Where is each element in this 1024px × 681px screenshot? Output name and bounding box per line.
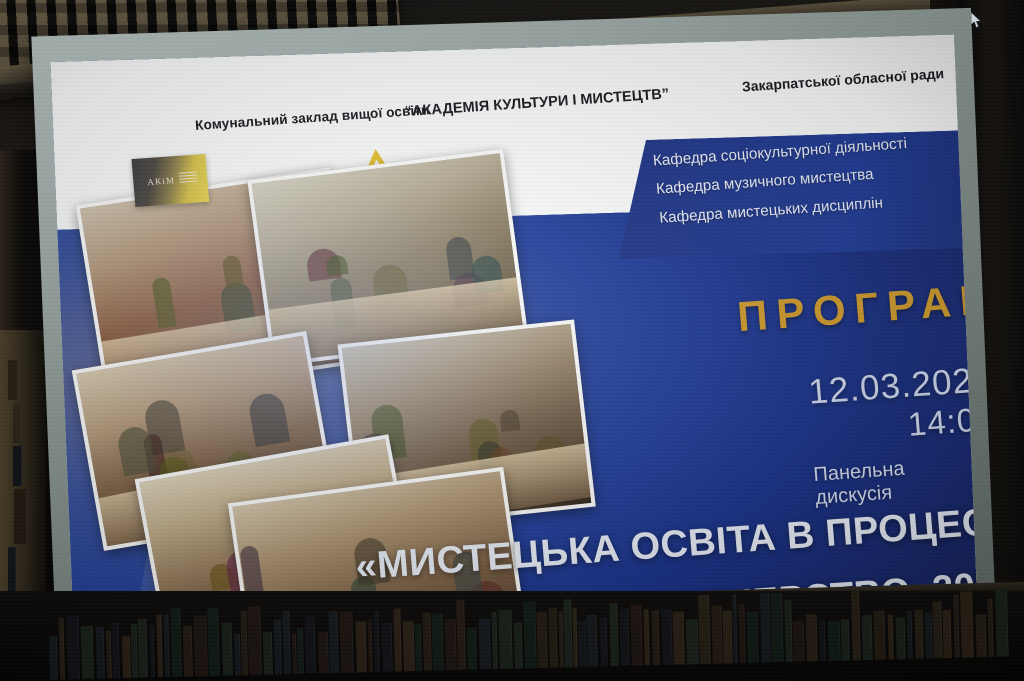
- book-spine: [431, 613, 443, 670]
- book-spine: [953, 595, 960, 658]
- book-spine: [747, 612, 759, 663]
- book-spine: [828, 621, 841, 661]
- book-spine: [445, 619, 457, 670]
- book-spine: [874, 611, 886, 660]
- book-spine: [915, 610, 924, 659]
- book-spine: [150, 625, 155, 677]
- book-spine: [698, 595, 711, 664]
- book-spine: [514, 622, 523, 668]
- book-spine: [14, 489, 27, 544]
- presentation-slide: АКіМ Комунальний заклад вищої освіти “АК…: [50, 34, 977, 639]
- book-spine: [711, 606, 722, 664]
- program-heading: ПРОГРАМА: [736, 272, 978, 341]
- book-spine: [888, 614, 894, 659]
- book-spine: [282, 610, 291, 674]
- book-spine: [536, 612, 547, 668]
- book-spine: [193, 615, 207, 676]
- book-spine: [318, 632, 329, 673]
- book-spine: [339, 612, 353, 673]
- projection-screen: АКіМ Комунальний заклад вищої освіти “АК…: [31, 8, 996, 664]
- book-spine: [274, 619, 282, 674]
- book-spine: [328, 611, 339, 673]
- mouse-pointer-icon: [971, 12, 983, 29]
- book-spine: [661, 609, 672, 665]
- academy-logo-mark: АКіМ: [147, 175, 176, 187]
- book-spine: [122, 636, 131, 678]
- book-spine: [156, 614, 163, 677]
- book-spine: [138, 619, 148, 678]
- book-spine: [851, 591, 861, 660]
- book-spine: [49, 636, 58, 680]
- book-spine: [479, 618, 491, 669]
- book-spine: [960, 591, 974, 657]
- book-spine: [943, 610, 952, 658]
- book-spine: [422, 613, 431, 671]
- academy-logo-lines: [179, 171, 198, 184]
- book-row: [8, 582, 1020, 681]
- book-spine: [760, 592, 771, 662]
- book-spine: [643, 609, 649, 665]
- book-spine: [183, 626, 193, 677]
- book-spine: [987, 599, 993, 657]
- book-spine: [368, 619, 373, 672]
- book-spine: [305, 617, 316, 674]
- book-spine: [619, 609, 629, 666]
- book-spine: [686, 619, 699, 664]
- book-spine: [373, 611, 379, 672]
- book-spine: [13, 446, 22, 486]
- book-spine: [13, 403, 22, 443]
- book-spine: [467, 628, 477, 670]
- book-spine: [456, 600, 466, 670]
- book-spine: [738, 604, 745, 663]
- screen-canvas: АКіМ Комунальний заклад вищої освіти “АК…: [50, 34, 977, 639]
- book-spine: [587, 615, 598, 667]
- book-spine: [732, 594, 738, 663]
- event-type: Панельна дискусія: [813, 453, 974, 510]
- book-spine: [925, 612, 933, 658]
- book-spine: [907, 611, 913, 659]
- book-spine: [630, 605, 642, 666]
- book-spine: [722, 610, 732, 663]
- book-spine: [673, 612, 685, 665]
- book-spine: [819, 620, 826, 661]
- book-spine: [247, 606, 262, 675]
- book-spine: [81, 626, 94, 679]
- book-spine: [995, 589, 1009, 657]
- book-spine: [8, 360, 18, 400]
- book-spine: [234, 633, 241, 675]
- book-spine: [572, 608, 577, 667]
- book-spine: [58, 618, 65, 680]
- event-time: 14:00: [906, 400, 977, 444]
- book-spine: [523, 601, 537, 668]
- book-spine: [263, 632, 273, 675]
- book-spine: [841, 619, 850, 660]
- book-spine: [932, 601, 942, 658]
- book-spine: [976, 614, 987, 657]
- book-spine: [862, 615, 873, 660]
- book-spine: [96, 627, 105, 679]
- book-spine: [66, 615, 80, 679]
- book-spine: [609, 603, 619, 666]
- bottom-bookshelf: [0, 591, 1024, 681]
- book-spine: [297, 628, 304, 674]
- book-spine: [222, 623, 233, 676]
- book-spine: [578, 621, 587, 667]
- book-spine: [896, 617, 906, 659]
- book-spine: [393, 608, 402, 671]
- book-spine: [415, 624, 422, 671]
- book-spine: [491, 612, 497, 669]
- book-spine: [170, 608, 182, 677]
- book-spine: [770, 593, 784, 662]
- book-spine: [207, 608, 220, 676]
- book-spine: [548, 608, 557, 668]
- book-spine: [793, 621, 805, 662]
- projection-screen-scene: АКіМ Комунальний заклад вищої освіти “АК…: [0, 0, 1024, 681]
- academy-logo: АКіМ: [131, 154, 209, 207]
- book-spine: [600, 617, 608, 666]
- book-spine: [382, 623, 393, 672]
- book-spine: [403, 621, 415, 671]
- book-spine: [563, 599, 573, 667]
- book-spine: [498, 610, 512, 669]
- book-spine: [356, 621, 367, 672]
- book-spine: [784, 600, 793, 662]
- book-spine: [806, 614, 818, 661]
- book-spine: [163, 614, 170, 677]
- book-spine: [112, 622, 120, 678]
- book-spine: [651, 610, 659, 665]
